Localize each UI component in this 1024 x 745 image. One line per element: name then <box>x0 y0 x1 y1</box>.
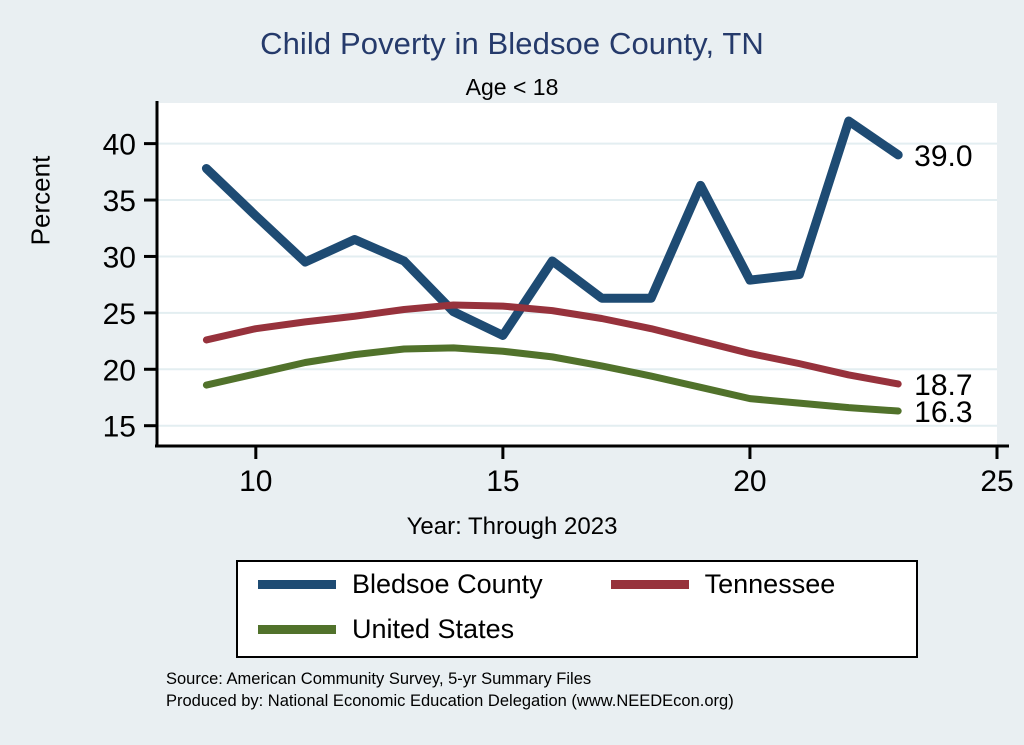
y-axis-tick-label: 25 <box>103 298 136 331</box>
legend-item-united-states[interactable]: United States <box>238 614 514 645</box>
x-axis-label: Year: Through 2023 <box>0 513 1024 541</box>
legend-row-1: Bledsoe County Tennessee <box>238 562 916 607</box>
legend-label-united-states: United States <box>352 614 514 645</box>
plot-area: 1520253035401015202539.018.716.3 <box>0 0 1024 500</box>
y-axis-tick-label: 35 <box>103 185 136 218</box>
legend-item-bledsoe-county[interactable]: Bledsoe County <box>238 569 543 600</box>
x-axis-tick-label: 25 <box>980 465 1013 498</box>
legend-swatch-tennessee <box>611 580 689 589</box>
legend-swatch-bledsoe-county <box>258 580 336 589</box>
x-axis-tick-label: 15 <box>486 465 519 498</box>
y-axis-tick-label: 30 <box>103 241 136 274</box>
y-axis-tick-label: 15 <box>103 411 136 444</box>
legend-label-bledsoe-county: Bledsoe County <box>352 569 543 600</box>
footer-produced-by: Produced by: National Economic Education… <box>166 690 734 712</box>
end-label-bledsoe-county: 39.0 <box>914 140 972 173</box>
legend-label-tennessee: Tennessee <box>705 569 836 600</box>
x-axis-tick-label: 10 <box>239 465 272 498</box>
x-axis-tick-label: 20 <box>733 465 766 498</box>
legend-item-tennessee[interactable]: Tennessee <box>591 569 836 600</box>
legend-swatch-united-states <box>258 625 336 634</box>
chart-footer: Source: American Community Survey, 5-yr … <box>166 668 734 713</box>
y-axis-tick-label: 20 <box>103 354 136 387</box>
chart-figure: Child Poverty in Bledsoe County, TN Age … <box>0 0 1024 745</box>
footer-source: Source: American Community Survey, 5-yr … <box>166 668 734 690</box>
end-label-united-states: 16.3 <box>914 396 972 429</box>
chart-legend: Bledsoe County Tennessee United States <box>236 560 918 658</box>
legend-row-2: United States <box>238 607 916 652</box>
y-axis-tick-label: 40 <box>103 129 136 162</box>
